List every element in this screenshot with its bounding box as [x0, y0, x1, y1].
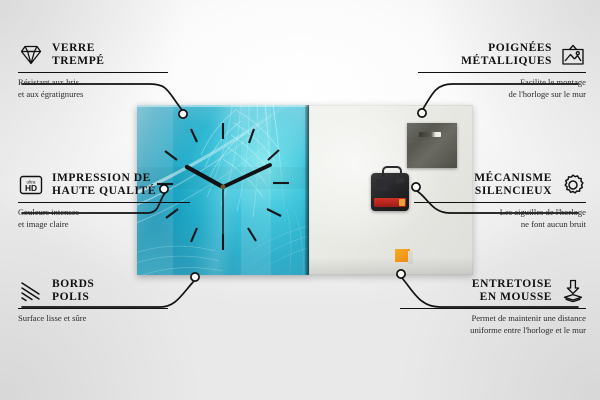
feature-subtitle-line2: de l'horloge sur le mur	[418, 89, 586, 100]
feature-subtitle-line2: et image claire	[18, 219, 190, 230]
feature-divider	[414, 202, 586, 203]
feature-entretoise-en-mousse: ENTRETOISE EN MOUSSE Permet de maintenir…	[400, 278, 586, 336]
feature-title-line2: SILENCIEUX	[474, 185, 552, 198]
feature-titles: ENTRETOISE EN MOUSSE	[472, 278, 552, 304]
feature-subtitle-line2: et aux égratignures	[18, 89, 168, 100]
feature-header: POIGNÉES MÉTALLIQUES	[418, 42, 586, 68]
feature-divider	[18, 308, 168, 309]
feature-header: BORDS POLIS	[18, 278, 168, 304]
feature-header: ultra HD IMPRESSION DE HAUTE QUALITÉ	[18, 172, 190, 198]
leader-dot-verre	[179, 110, 187, 118]
infographic-canvas: VERRE TREMPÉ Résistant aux bris et aux é…	[0, 0, 600, 400]
feature-title-line2: HAUTE QUALITÉ	[52, 185, 156, 198]
feature-subtitle-line1: Couleurs intenses	[18, 207, 190, 218]
feature-title-line1: BORDS	[52, 278, 94, 291]
diamond-icon	[18, 42, 44, 68]
gear-icon	[560, 172, 586, 198]
feature-titles: POIGNÉES MÉTALLIQUES	[461, 42, 552, 68]
feature-subtitle-line1: Les aiguilles de l'horloge	[414, 207, 586, 218]
picture-hanger-icon	[560, 42, 586, 68]
feature-divider	[18, 202, 190, 203]
feature-subtitle-line1: Permet de maintenir une distance	[400, 313, 586, 324]
feature-divider	[400, 308, 586, 309]
polished-edges-icon	[18, 278, 44, 304]
feature-title-line1: POIGNÉES	[461, 42, 552, 55]
leader-dot-bords	[191, 273, 199, 281]
feature-title-line1: IMPRESSION DE	[52, 172, 156, 185]
feature-verre-trempe: VERRE TREMPÉ Résistant aux bris et aux é…	[18, 42, 168, 100]
feature-title-line2: MÉTALLIQUES	[461, 55, 552, 68]
feature-subtitle-line1: Résistant aux bris	[18, 77, 168, 88]
feature-subtitle-line2: ne font aucun bruit	[414, 219, 586, 230]
feature-titles: IMPRESSION DE HAUTE QUALITÉ	[52, 172, 156, 198]
feature-divider	[18, 72, 168, 73]
feature-poignees-metalliques: POIGNÉES MÉTALLIQUES Facilite le montage…	[418, 42, 586, 100]
feature-title-line2: POLIS	[52, 291, 94, 304]
feature-titles: MÉCANISME SILENCIEUX	[474, 172, 552, 198]
feature-header: VERRE TREMPÉ	[18, 42, 168, 68]
leader-dot-poignees	[418, 109, 426, 117]
feature-title-line1: MÉCANISME	[474, 172, 552, 185]
feature-impression-haute-qualite: ultra HD IMPRESSION DE HAUTE QUALITÉ Cou…	[18, 172, 190, 230]
feature-mecanisme-silencieux: MÉCANISME SILENCIEUX Les aiguilles de l'…	[414, 172, 586, 230]
feature-divider	[418, 72, 586, 73]
feature-header: ENTRETOISE EN MOUSSE	[400, 278, 586, 304]
feature-titles: BORDS POLIS	[52, 278, 94, 304]
feature-header: MÉCANISME SILENCIEUX	[414, 172, 586, 198]
arrow-onto-layers-icon	[560, 278, 586, 304]
feature-subtitle-line1: Facilite le montage	[418, 77, 586, 88]
feature-title-line1: ENTRETOISE	[472, 278, 552, 291]
feature-title-line2: EN MOUSSE	[472, 291, 552, 304]
feature-title-line2: TREMPÉ	[52, 55, 105, 68]
feature-bords-polis: BORDS POLIS Surface lisse et sûre	[18, 278, 168, 325]
leader-dot-entretoise	[397, 270, 405, 278]
feature-subtitle-line2: uniforme entre l'horloge et le mur	[400, 325, 586, 336]
feature-title-line1: VERRE	[52, 42, 105, 55]
icon-text-hd: HD	[25, 183, 37, 193]
ultra-hd-badge-icon: ultra HD	[18, 172, 44, 198]
feature-titles: VERRE TREMPÉ	[52, 42, 105, 68]
feature-subtitle-line1: Surface lisse et sûre	[18, 313, 168, 324]
